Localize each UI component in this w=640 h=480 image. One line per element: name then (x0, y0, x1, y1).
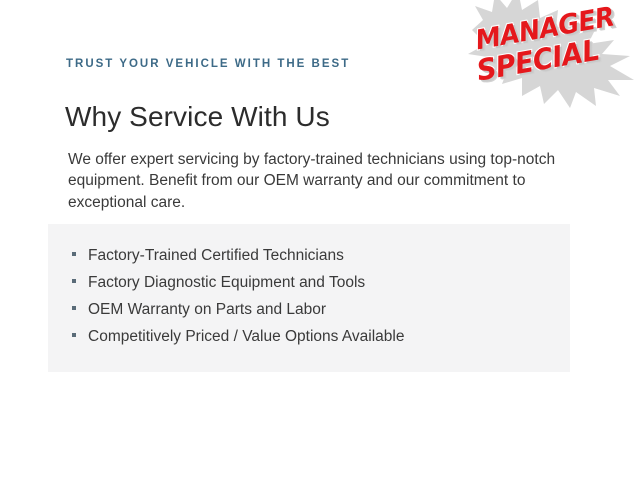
bullet-dot-icon (72, 333, 76, 337)
intro-paragraph: We offer expert servicing by factory-tra… (68, 149, 558, 214)
bullet-dot-icon (72, 252, 76, 256)
list-item: Competitively Priced / Value Options Ava… (72, 323, 558, 350)
section-eyebrow: TRUST YOUR VEHICLE WITH THE BEST (66, 58, 350, 70)
manager-special-badge: MANAGER SPECIAL (462, 0, 640, 109)
promo-page: TRUST YOUR VEHICLE WITH THE BEST Why Ser… (0, 0, 640, 480)
bullet-dot-icon (72, 279, 76, 283)
features-list: Factory-Trained Certified Technicians Fa… (72, 242, 558, 350)
bullet-dot-icon (72, 306, 76, 310)
features-panel: Factory-Trained Certified Technicians Fa… (48, 224, 570, 372)
list-item: Factory-Trained Certified Technicians (72, 242, 558, 269)
list-item-label: Competitively Priced / Value Options Ava… (88, 323, 404, 350)
list-item-label: Factory-Trained Certified Technicians (88, 242, 344, 269)
list-item-label: OEM Warranty on Parts and Labor (88, 296, 326, 323)
list-item: Factory Diagnostic Equipment and Tools (72, 269, 558, 296)
list-item-label: Factory Diagnostic Equipment and Tools (88, 269, 365, 296)
page-title: Why Service With Us (65, 101, 330, 133)
list-item: OEM Warranty on Parts and Labor (72, 296, 558, 323)
